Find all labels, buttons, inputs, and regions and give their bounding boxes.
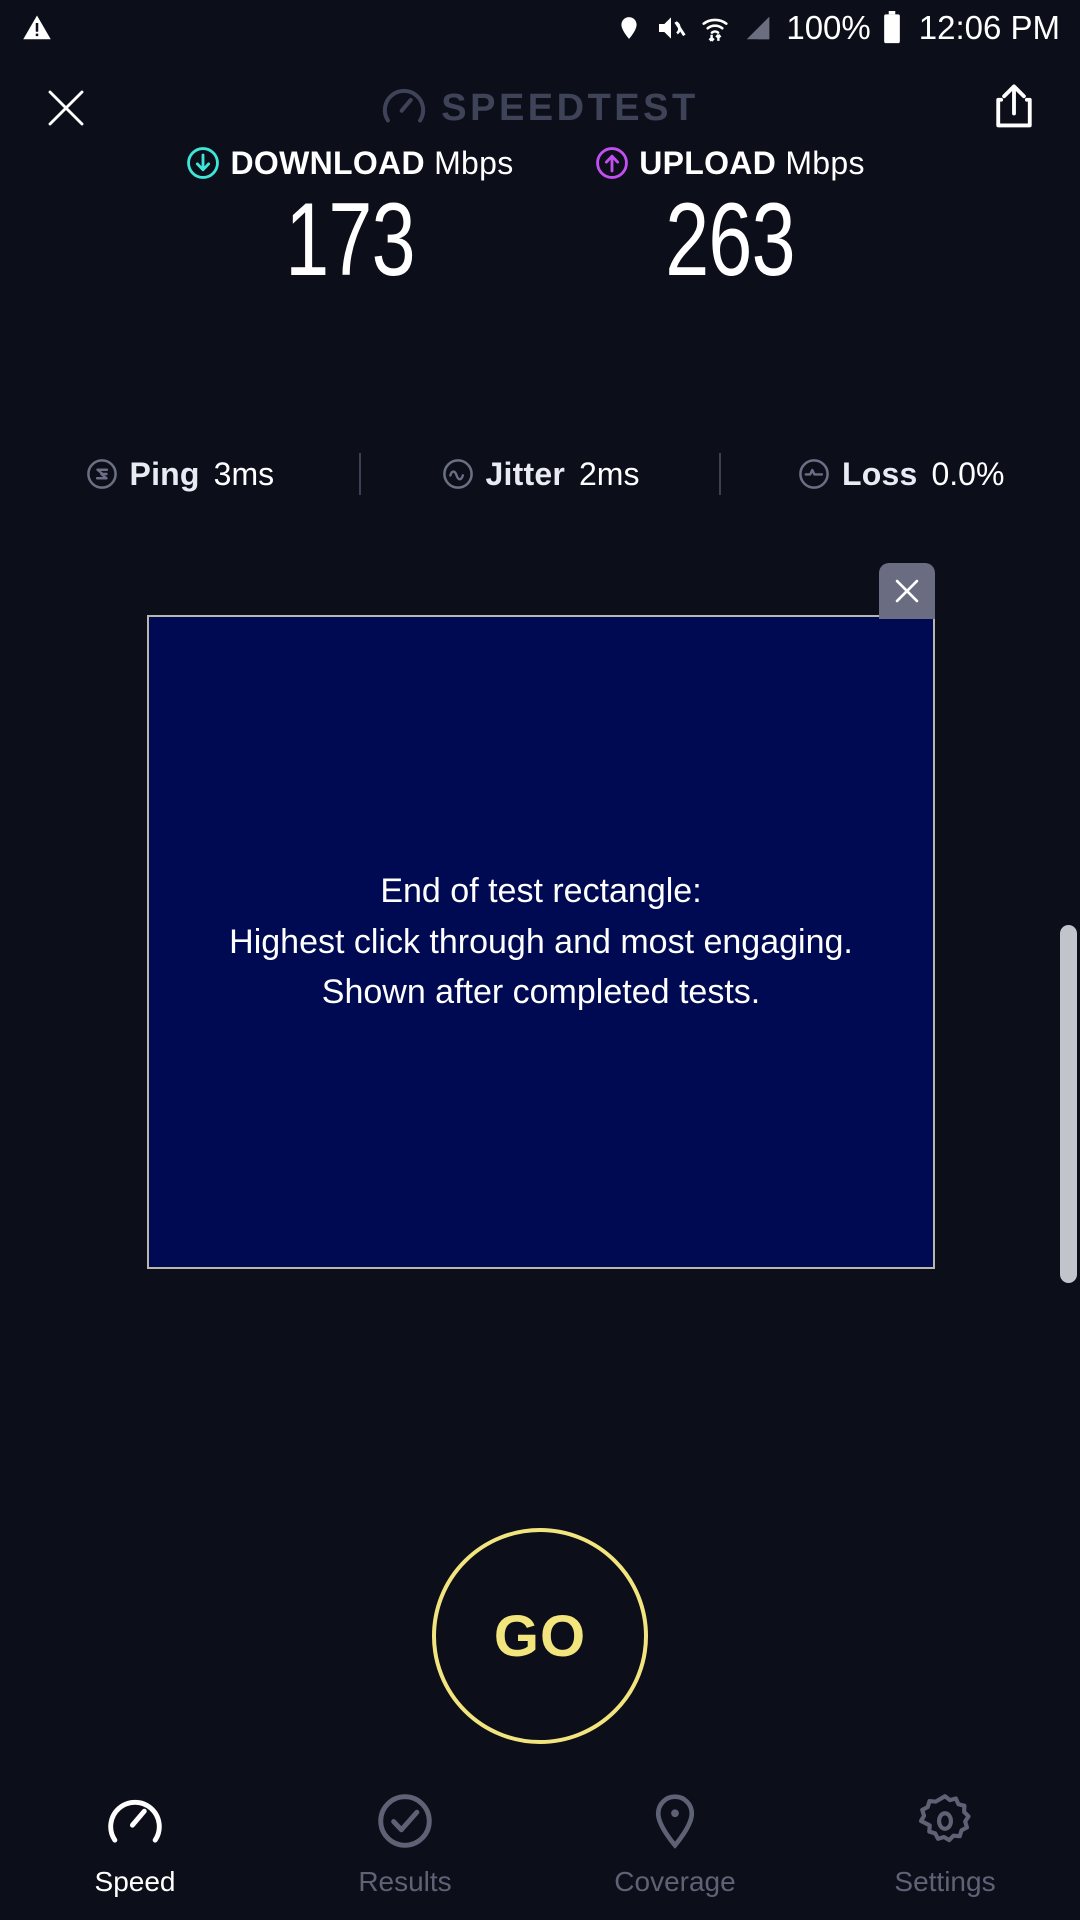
volume-mute-icon: [655, 12, 687, 44]
bottom-navigation: Speed Results Coverage Settings: [0, 1780, 1080, 1920]
nav-label-speed: Speed: [95, 1866, 176, 1898]
download-label: DOWNLOAD: [230, 145, 424, 181]
upload-label: UPLOAD: [639, 145, 776, 181]
speed-metrics-row: DOWNLOAD Mbps 173 UPLOAD Mbps 263: [0, 140, 1080, 298]
jitter-label: Jitter: [486, 456, 565, 493]
arrow-up-circle-icon: [595, 146, 629, 180]
arrow-down-circle-icon: [186, 146, 220, 180]
location-pin-icon: [616, 12, 642, 44]
ad-banner[interactable]: End of test rectangle: Highest click thr…: [147, 615, 935, 1269]
advertisement[interactable]: End of test rectangle: Highest click thr…: [147, 615, 935, 1269]
battery-percent-label: 100%: [786, 11, 870, 44]
loss-icon: [797, 457, 831, 491]
close-button[interactable]: [34, 76, 98, 140]
status-bar-right: 100% 12:06 PM: [616, 11, 1060, 45]
upload-metric: UPLOAD Mbps 263: [540, 140, 920, 298]
scrollbar-thumb[interactable]: [1060, 925, 1077, 1283]
download-label-group: DOWNLOAD Mbps: [160, 140, 540, 186]
ad-line-1: End of test rectangle:: [229, 866, 853, 917]
nav-label-coverage: Coverage: [614, 1866, 735, 1898]
download-metric: DOWNLOAD Mbps 173: [160, 140, 540, 298]
secondary-stats-row: Ping 3ms Jitter 2ms Loss 0.0%: [0, 446, 1080, 502]
ping-label: Ping: [130, 456, 200, 493]
check-circle-icon: [372, 1790, 438, 1852]
jitter-value: 2ms: [579, 456, 639, 493]
ad-line-3: Shown after completed tests.: [229, 967, 853, 1018]
upload-label-group: UPLOAD Mbps: [540, 140, 920, 186]
nav-item-settings[interactable]: Settings: [810, 1790, 1080, 1898]
app-title: SPEEDTEST: [441, 87, 698, 130]
download-unit: Mbps: [434, 145, 513, 181]
go-button[interactable]: GO: [432, 1528, 648, 1744]
nav-label-results: Results: [358, 1866, 451, 1898]
gear-icon: [912, 1790, 978, 1852]
close-icon: [42, 84, 90, 132]
loss-label: Loss: [842, 456, 918, 493]
battery-full-icon: [882, 11, 902, 45]
signal-bars-icon: [743, 12, 773, 44]
brand-logo: SPEEDTEST: [0, 85, 1080, 131]
loss-stat: Loss 0.0%: [721, 456, 1080, 493]
warning-triangle-icon: [22, 12, 52, 44]
ad-line-2: Highest click through and most engaging.: [229, 917, 853, 968]
jitter-stat: Jitter 2ms: [361, 456, 720, 493]
speedometer-icon: [381, 85, 427, 131]
ping-value: 3ms: [214, 456, 274, 493]
go-button-label: GO: [494, 1603, 586, 1670]
wifi-transfer-icon: [700, 12, 730, 44]
nav-item-coverage[interactable]: Coverage: [540, 1790, 810, 1898]
status-bar-left: [22, 12, 52, 44]
close-icon: [890, 574, 924, 608]
nav-label-settings: Settings: [894, 1866, 995, 1898]
download-value: 173: [206, 182, 495, 298]
upload-unit: Mbps: [785, 145, 864, 181]
status-bar: 100% 12:06 PM: [0, 0, 1080, 55]
ping-icon: [85, 457, 119, 491]
share-icon: [992, 84, 1036, 132]
share-button[interactable]: [982, 76, 1046, 140]
upload-value: 263: [586, 182, 875, 298]
jitter-icon: [441, 457, 475, 491]
test-results: DOWNLOAD Mbps 173 UPLOAD Mbps 263 Ping: [0, 140, 1080, 298]
speedometer-icon: [102, 1790, 168, 1852]
nav-item-results[interactable]: Results: [270, 1790, 540, 1898]
ad-text: End of test rectangle: Highest click thr…: [229, 866, 853, 1018]
loss-value: 0.0%: [931, 456, 1004, 493]
clock-label: 12:06 PM: [919, 11, 1060, 44]
ping-stat: Ping 3ms: [0, 456, 359, 493]
nav-item-speed[interactable]: Speed: [0, 1790, 270, 1898]
location-pin-icon: [642, 1790, 708, 1852]
ad-close-button[interactable]: [879, 563, 935, 619]
